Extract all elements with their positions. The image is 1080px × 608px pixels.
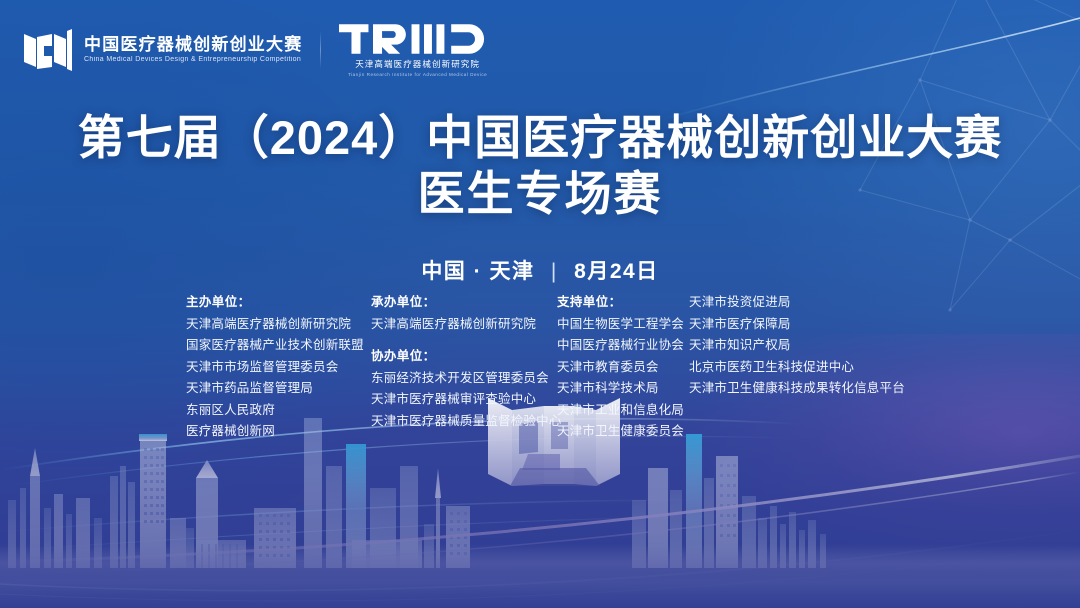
competition-logo: 中国医疗器械创新创业大赛 China Medical Devices Desig… bbox=[22, 26, 302, 74]
organizer-item: 天津市医疗器械审评查验中心 bbox=[371, 389, 557, 411]
header-logo-bar: 中国医疗器械创新创业大赛 China Medical Devices Desig… bbox=[22, 22, 496, 77]
organizer-heading: 支持单位： bbox=[557, 292, 689, 314]
organizer-column-host: 主办单位： 天津高端医疗器械创新研究院 国家医疗器械产业技术创新联盟 天津市市场… bbox=[186, 292, 371, 443]
competition-name-cn: 中国医疗器械创新创业大赛 bbox=[84, 36, 302, 53]
open-door-logo-icon bbox=[22, 26, 74, 74]
organizer-item: 天津市卫生健康科技成果转化信息平台 bbox=[689, 378, 899, 400]
organizer-heading-secondary: 协办单位： bbox=[371, 346, 557, 368]
organizer-item: 中国生物医学工程学会 bbox=[557, 314, 689, 336]
organizer-heading: 承办单位： bbox=[371, 292, 557, 314]
institute-name-en: Tianjin Research Institute for Advanced … bbox=[348, 73, 487, 78]
organizer-heading: 主办单位： bbox=[186, 292, 371, 314]
logo-divider bbox=[320, 31, 321, 69]
organizer-columns: 主办单位： 天津高端医疗器械创新研究院 国家医疗器械产业技术创新联盟 天津市市场… bbox=[186, 292, 899, 443]
organizer-item: 天津市科学技术局 bbox=[557, 378, 689, 400]
organizer-item: 医疗器械创新网 bbox=[186, 421, 371, 443]
organizer-column-supporter-a: 支持单位： 中国生物医学工程学会 中国医疗器械行业协会 天津市教育委员会 天津市… bbox=[557, 292, 689, 443]
event-location: 中国 · 天津 bbox=[421, 260, 534, 283]
title-line-1: 第七届（2024）中国医疗器械创新创业大赛 bbox=[0, 112, 1080, 165]
organizer-spacer bbox=[371, 335, 557, 346]
organizer-item: 天津市药品监督管理局 bbox=[186, 378, 371, 400]
institute-name-cn: 天津高端医疗器械创新研究院 bbox=[355, 60, 480, 69]
organizer-item: 国家医疗器械产业技术创新联盟 bbox=[186, 335, 371, 357]
organizer-item: 天津市卫生健康委员会 bbox=[557, 421, 689, 443]
title-line-2: 医生专场赛 bbox=[0, 165, 1080, 222]
organizer-column-supporter-b: 天津市投资促进局 天津市医疗保障局 天津市知识产权局 北京市医药卫生科技促进中心… bbox=[689, 292, 899, 400]
event-date: 8月24日 bbox=[574, 260, 659, 283]
organizer-item: 中国医疗器械行业协会 bbox=[557, 335, 689, 357]
institute-logo: 天津高端医疗器械创新研究院 Tianjin Research Institute… bbox=[339, 22, 495, 77]
organizer-item: 天津高端医疗器械创新研究院 bbox=[186, 314, 371, 336]
organizer-item: 天津市市场监督管理委员会 bbox=[186, 357, 371, 379]
organizer-item: 天津市工业和信息化局 bbox=[557, 400, 689, 422]
organizer-item: 天津高端医疗器械创新研究院 bbox=[371, 314, 557, 336]
event-poster: 中国医疗器械创新创业大赛 China Medical Devices Desig… bbox=[0, 0, 1080, 608]
organizer-item: 天津市医疗器械质量监督检验中心 bbox=[371, 411, 557, 433]
trimd-wordmark-icon bbox=[339, 22, 495, 56]
organizer-item: 天津市知识产权局 bbox=[689, 335, 899, 357]
organizer-item: 天津市投资促进局 bbox=[689, 292, 899, 314]
organizer-item: 天津市教育委员会 bbox=[557, 357, 689, 379]
organizer-item: 北京市医药卫生科技促进中心 bbox=[689, 357, 899, 379]
organizer-item: 东丽经济技术开发区管理委员会 bbox=[371, 368, 557, 390]
event-datetime-line: 中国 · 天津 | 8月24日 bbox=[0, 255, 1080, 285]
organizer-column-undertaker: 承办单位： 天津高端医疗器械创新研究院 协办单位： 东丽经济技术开发区管理委员会… bbox=[371, 292, 557, 432]
poster-title: 第七届（2024）中国医疗器械创新创业大赛 医生专场赛 bbox=[0, 112, 1080, 222]
competition-name-en: China Medical Devices Design & Entrepren… bbox=[84, 56, 302, 63]
organizer-item: 天津市医疗保障局 bbox=[689, 314, 899, 336]
event-separator: | bbox=[551, 260, 558, 284]
organizer-item: 东丽区人民政府 bbox=[186, 400, 371, 422]
